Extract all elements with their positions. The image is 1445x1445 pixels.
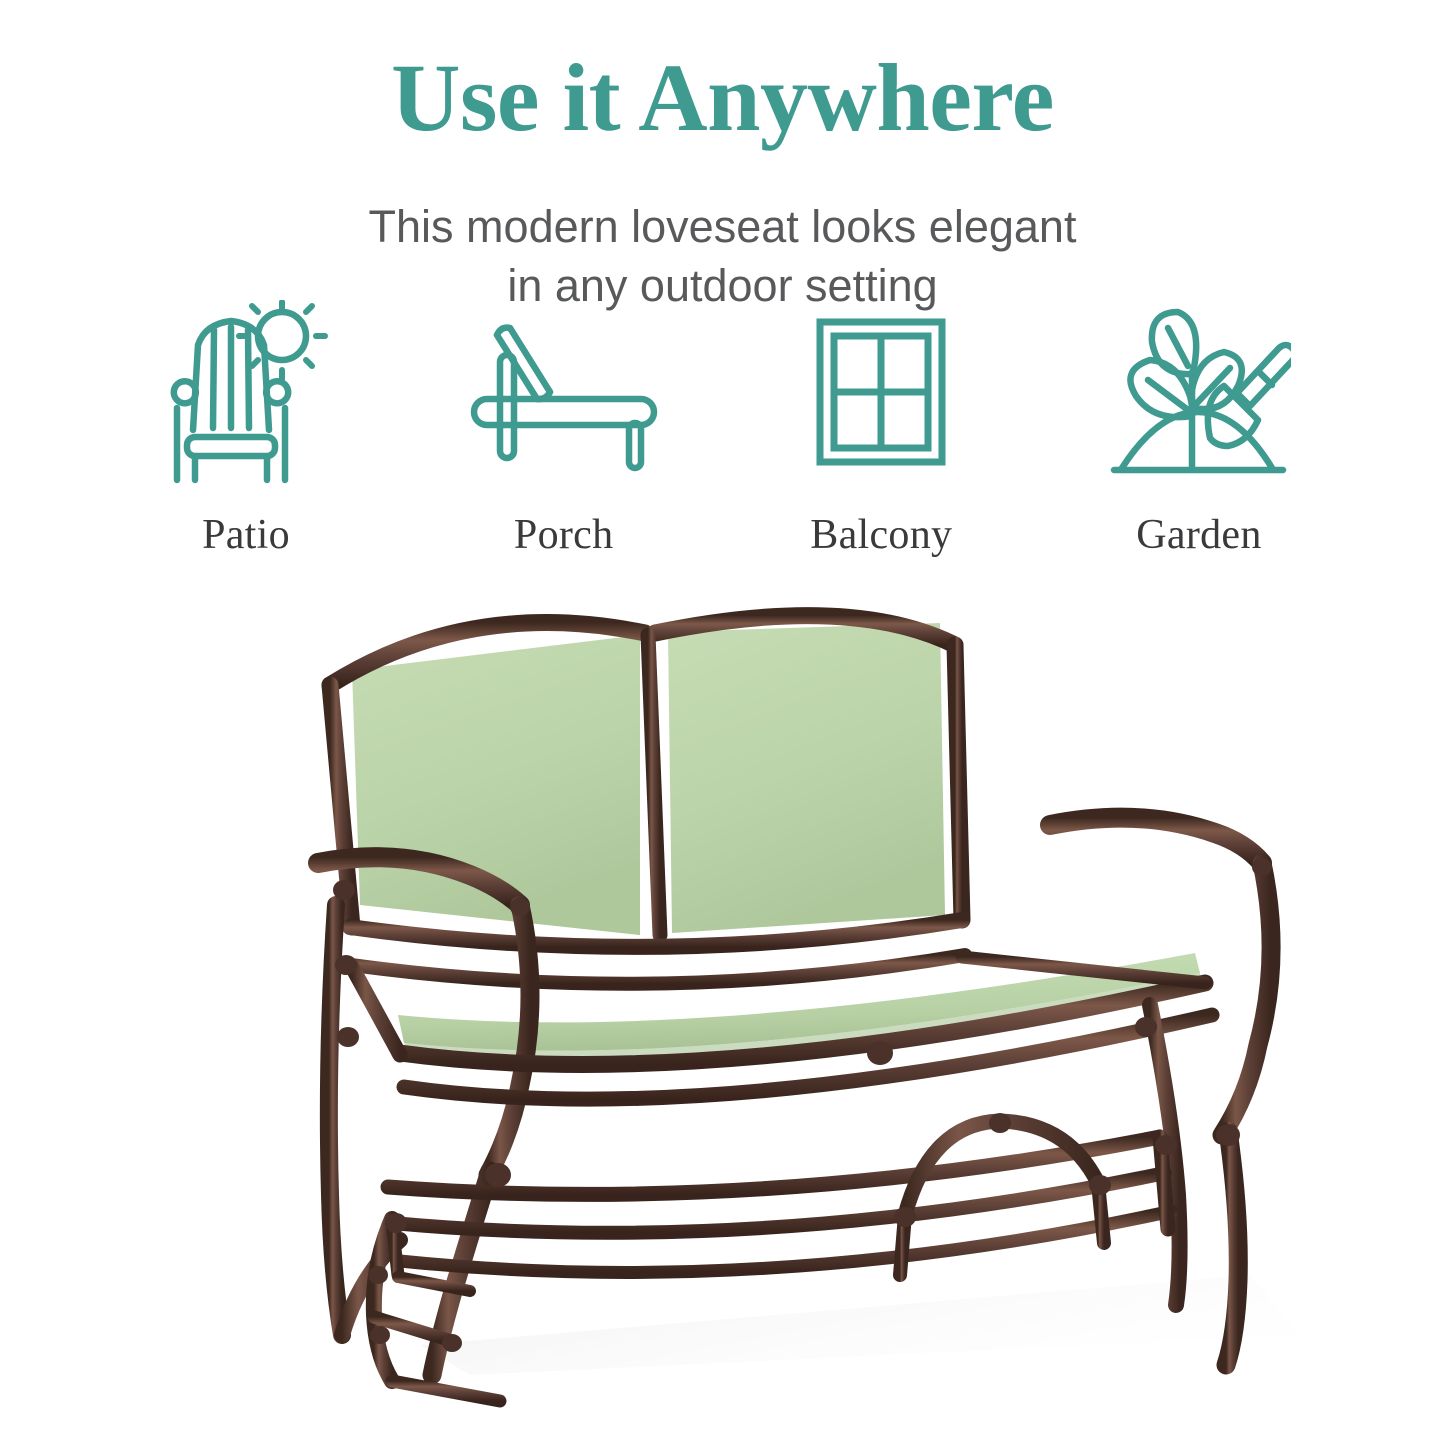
feature-item-balcony: Balcony — [731, 300, 1031, 559]
plant-with-shovel-icon — [1106, 300, 1291, 485]
feature-item-porch: Porch — [414, 300, 714, 559]
adirondack-chair-with-sun-icon — [161, 300, 331, 485]
feature-label-garden: Garden — [1136, 511, 1261, 559]
page-title: Use it Anywhere — [0, 48, 1445, 149]
product-image-glider-loveseat — [0, 575, 1445, 1445]
floor-shadow — [420, 1275, 1300, 1375]
use-case-icon-row: Patio Porch — [96, 300, 1349, 562]
feature-item-garden: Garden — [1049, 300, 1349, 559]
four-pane-window-icon — [806, 300, 956, 485]
page-subtitle: This modern loveseat looks elegant in an… — [0, 198, 1445, 315]
subtitle-line-1: This modern loveseat looks elegant — [369, 201, 1077, 252]
feature-label-balcony: Balcony — [810, 511, 952, 559]
feature-label-patio: Patio — [202, 511, 290, 559]
infographic-page: Use it Anywhere This modern loveseat loo… — [0, 0, 1445, 1445]
lounge-chaise-chair-icon — [464, 300, 664, 485]
feature-item-patio: Patio — [96, 300, 396, 559]
feature-label-porch: Porch — [514, 511, 614, 559]
